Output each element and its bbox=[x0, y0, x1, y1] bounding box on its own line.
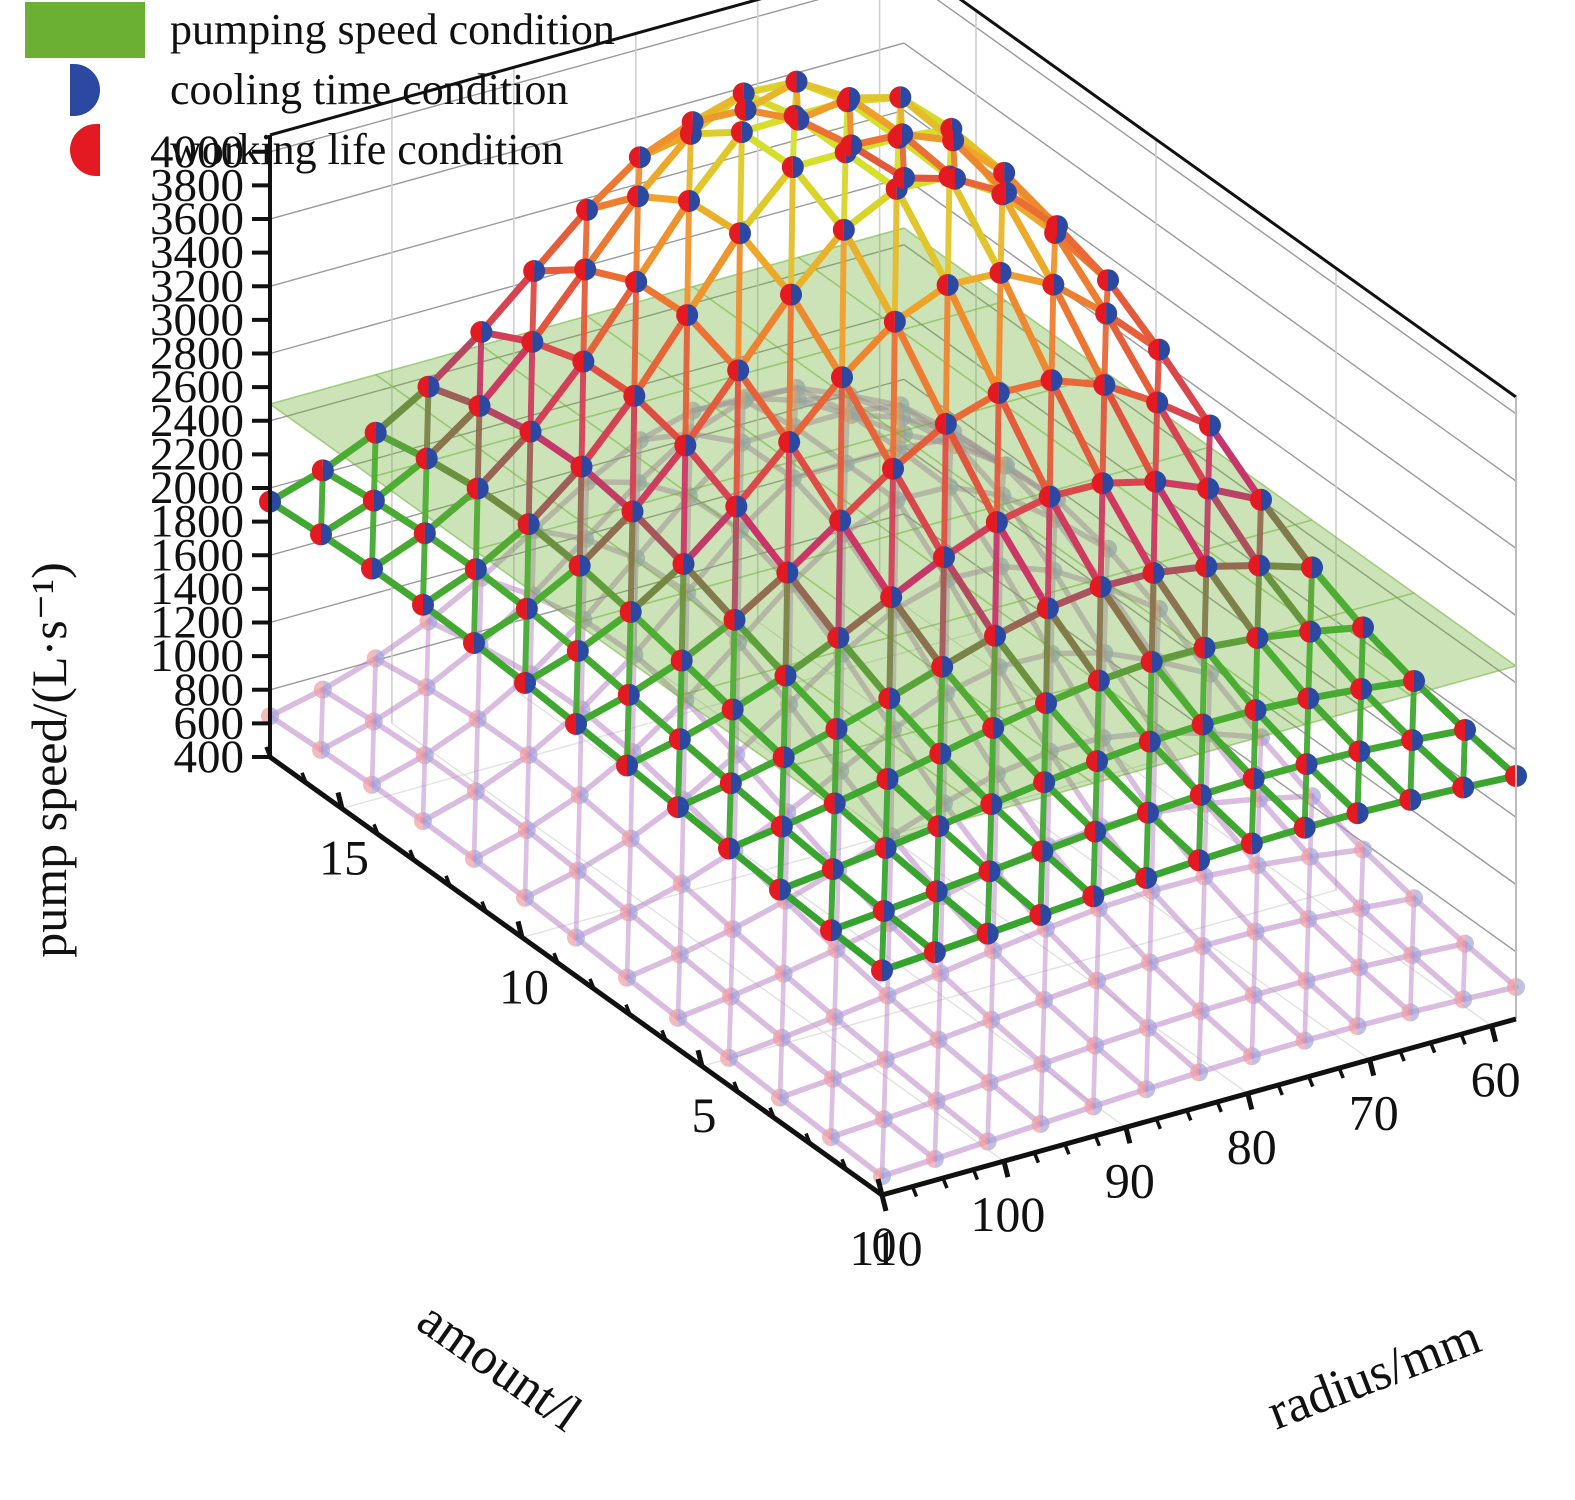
mesh-diagonal bbox=[731, 929, 733, 996]
surface-vertex-marker bbox=[787, 109, 809, 131]
surface-vertex-marker bbox=[873, 1167, 891, 1185]
surface-vertex-marker bbox=[824, 1070, 842, 1088]
surface-vertex-marker bbox=[720, 772, 742, 794]
mesh-diagonal bbox=[844, 152, 846, 229]
mesh-diagonal bbox=[1046, 608, 1048, 703]
marker-right-half bbox=[935, 941, 946, 963]
mesh-edge bbox=[937, 1101, 988, 1142]
mesh-edge bbox=[478, 719, 529, 755]
mesh-diagonal bbox=[476, 719, 478, 791]
surface-vertex-marker bbox=[1039, 486, 1061, 508]
mesh-edge bbox=[731, 997, 782, 1038]
surface-vertex-marker bbox=[673, 875, 691, 893]
marker-right-half bbox=[1001, 262, 1012, 284]
legend: pumping speed condition cooling time con… bbox=[0, 0, 780, 180]
surface-vertex-marker bbox=[1090, 576, 1112, 598]
mesh-edge bbox=[636, 201, 689, 282]
legend-label-working-life: working life condition bbox=[170, 128, 564, 172]
surface-vertex-marker bbox=[465, 850, 483, 868]
y-tick-label: 80 bbox=[1227, 1118, 1277, 1174]
mesh-diagonal bbox=[891, 469, 893, 597]
mesh-diagonal bbox=[636, 196, 638, 281]
mesh-diagonal bbox=[682, 564, 684, 661]
mesh-diagonal bbox=[995, 522, 997, 636]
surface-vertex-marker bbox=[926, 1150, 944, 1168]
mesh-diagonal bbox=[888, 923, 890, 995]
mesh-diagonal bbox=[1152, 573, 1154, 662]
mesh-diagonal bbox=[321, 690, 323, 750]
surface-vertex-marker bbox=[981, 1073, 999, 1091]
surface-vertex-marker bbox=[1297, 687, 1319, 709]
mesh-edge bbox=[576, 938, 627, 978]
mesh-diagonal bbox=[374, 658, 376, 721]
mesh-edge bbox=[1095, 1046, 1146, 1090]
surface-vertex-marker bbox=[884, 311, 906, 333]
surface-vertex-marker bbox=[363, 776, 381, 794]
mesh-edge bbox=[529, 755, 580, 795]
mesh-diagonal bbox=[1042, 1000, 1044, 1064]
mesh-edge bbox=[427, 687, 478, 719]
surface-vertex-marker bbox=[924, 941, 946, 963]
mesh-diagonal bbox=[1093, 1046, 1095, 1107]
surface-vertex-marker bbox=[1092, 472, 1114, 494]
mesh-diagonal bbox=[525, 830, 527, 898]
mesh-edge bbox=[682, 884, 733, 929]
mesh-diagonal bbox=[1050, 380, 1052, 496]
mesh-edge bbox=[578, 871, 629, 913]
x-axis-title: amount/l bbox=[407, 1290, 591, 1443]
surface-vertex-marker bbox=[1294, 817, 1316, 839]
mesh-edge bbox=[1414, 898, 1465, 943]
mesh-edge bbox=[993, 951, 1044, 1000]
surface-vertex-marker bbox=[669, 1009, 687, 1027]
marker-right-half bbox=[1358, 802, 1369, 824]
y-tick bbox=[1248, 1093, 1252, 1109]
mesh-diagonal bbox=[838, 521, 840, 638]
mesh-diagonal bbox=[634, 282, 636, 396]
surface-vertex-marker bbox=[718, 838, 740, 860]
surface-vertex-marker bbox=[826, 718, 848, 740]
surface-vertex-marker bbox=[418, 678, 436, 696]
mesh-edge bbox=[1254, 995, 1305, 1041]
marker-right-half bbox=[955, 168, 966, 190]
mesh-diagonal bbox=[423, 755, 425, 821]
surface-vertex-marker bbox=[771, 816, 793, 838]
mesh-diagonal bbox=[1308, 857, 1310, 919]
surface-vertex-marker bbox=[521, 331, 543, 353]
surface-vertex-marker bbox=[1349, 1017, 1367, 1035]
surface-vertex-marker bbox=[944, 168, 966, 190]
mesh-edge bbox=[474, 859, 525, 898]
z-tick-label: 400 bbox=[174, 731, 245, 783]
surface-vertex-marker bbox=[1301, 848, 1319, 866]
surface-vertex-marker bbox=[1033, 771, 1055, 793]
marker-left-half bbox=[889, 86, 900, 108]
surface-vertex-marker bbox=[569, 555, 591, 577]
surface-vertex-marker bbox=[467, 782, 485, 800]
mesh-edge bbox=[474, 830, 527, 859]
surface-vertex-marker bbox=[1146, 391, 1168, 413]
surface-vertex-marker bbox=[1188, 849, 1210, 871]
surface-vertex-marker bbox=[620, 903, 638, 921]
mesh-diagonal bbox=[944, 424, 946, 557]
mesh-edge bbox=[884, 1119, 935, 1159]
surface-vertex-marker bbox=[569, 862, 587, 880]
mesh-edge bbox=[793, 167, 844, 230]
marker-right-half bbox=[1358, 1017, 1367, 1035]
surface-vertex-marker bbox=[622, 830, 640, 848]
mesh-diagonal bbox=[937, 1040, 939, 1101]
surface-vertex-marker bbox=[1248, 555, 1270, 577]
surface-vertex-marker bbox=[669, 728, 691, 750]
surface-vertex-marker bbox=[928, 815, 950, 837]
mesh-edge bbox=[374, 687, 427, 721]
mesh-diagonal bbox=[1305, 981, 1307, 1041]
surface-vertex-marker bbox=[984, 625, 1006, 647]
surface-vertex-marker bbox=[1199, 415, 1221, 437]
mesh-diagonal bbox=[1041, 1064, 1043, 1124]
mesh-diagonal bbox=[1044, 929, 1046, 1000]
mesh-diagonal bbox=[633, 396, 635, 512]
mesh-diagonal bbox=[1206, 489, 1208, 567]
mesh-diagonal bbox=[786, 573, 788, 676]
mesh-diagonal bbox=[733, 620, 735, 710]
surface-vertex-marker bbox=[1137, 802, 1159, 824]
marker-right-half bbox=[1305, 817, 1316, 839]
surface-vertex-marker bbox=[773, 746, 795, 768]
y-tick-label: 90 bbox=[1105, 1152, 1155, 1208]
mesh-diagonal bbox=[733, 850, 735, 929]
surface-vertex-marker bbox=[520, 746, 538, 764]
legend-swatch-wrap bbox=[0, 124, 170, 176]
surface-vertex-marker bbox=[1243, 768, 1265, 790]
mesh-diagonal bbox=[684, 445, 686, 564]
mesh-edge bbox=[782, 1038, 833, 1079]
mesh-edge bbox=[525, 898, 576, 938]
surface-vertex-marker bbox=[414, 812, 432, 830]
mesh-diagonal bbox=[687, 201, 689, 315]
y-tick bbox=[1004, 1161, 1008, 1177]
marker-right-half bbox=[1252, 832, 1263, 854]
surface-vertex-marker bbox=[875, 837, 897, 859]
surface-vertex-marker bbox=[412, 594, 434, 616]
mesh-diagonal bbox=[840, 377, 842, 520]
surface-vertex-marker bbox=[363, 490, 385, 512]
surface-vertex-marker bbox=[618, 969, 636, 987]
marker-right-half bbox=[1516, 978, 1525, 996]
surface-vertex-marker bbox=[1033, 1055, 1051, 1073]
mesh-edge bbox=[423, 791, 476, 821]
y-axis-title: radius/mm bbox=[1260, 1308, 1488, 1441]
mesh-edge bbox=[425, 719, 478, 755]
surface-vertex-marker bbox=[771, 1089, 789, 1107]
surface-vertex-marker bbox=[1401, 729, 1423, 751]
marker-left-half bbox=[625, 271, 636, 293]
marker-right-half bbox=[882, 959, 893, 981]
mesh-diagonal bbox=[835, 949, 837, 1017]
x-tick-label: 15 bbox=[319, 830, 369, 886]
surface-vertex-marker bbox=[993, 162, 1015, 184]
mesh-edge bbox=[990, 1082, 1041, 1124]
mesh-diagonal bbox=[474, 569, 476, 643]
mesh-edge bbox=[831, 1137, 882, 1176]
surface-vertex-marker bbox=[720, 1049, 738, 1067]
surface-vertex-marker bbox=[627, 185, 649, 207]
surface-vertex-marker bbox=[988, 382, 1010, 404]
surface-vertex-marker bbox=[826, 1008, 844, 1026]
mesh-edge bbox=[1150, 962, 1201, 1011]
mesh-diagonal bbox=[1150, 662, 1152, 742]
surface-vertex-marker bbox=[775, 665, 797, 687]
marker-right-half bbox=[1041, 1115, 1050, 1133]
surface-vertex-marker bbox=[1454, 990, 1472, 1008]
surface-vertex-marker bbox=[516, 598, 538, 620]
mesh-edge bbox=[423, 821, 474, 859]
mesh-edge bbox=[527, 795, 580, 830]
mesh-diagonal bbox=[782, 974, 784, 1038]
surface-plot-svg: 4000380036003400320030002800260024002200… bbox=[0, 0, 1575, 1500]
surface-vertex-marker bbox=[1454, 719, 1476, 741]
surface-vertex-marker bbox=[1348, 740, 1370, 762]
mesh-diagonal bbox=[1148, 962, 1150, 1027]
mesh-diagonal bbox=[991, 951, 993, 1020]
mesh-diagonal bbox=[576, 871, 578, 938]
mesh-diagonal bbox=[476, 489, 478, 570]
legend-label-cooling-time: cooling time condition bbox=[170, 68, 568, 112]
mesh-diagonal bbox=[833, 1017, 835, 1079]
mesh-diagonal bbox=[991, 728, 993, 804]
surface-vertex-marker bbox=[567, 929, 585, 947]
mesh-diagonal bbox=[1307, 919, 1309, 981]
surface-vertex-marker bbox=[1192, 1002, 1210, 1020]
mesh-edge bbox=[1148, 1028, 1199, 1072]
surface-vertex-marker bbox=[671, 946, 689, 964]
marker-left-half bbox=[678, 190, 689, 212]
mesh-edge bbox=[323, 690, 374, 722]
marker-right-half bbox=[1305, 1032, 1314, 1050]
surface-vertex-marker bbox=[523, 260, 545, 282]
surface-vertex-marker bbox=[361, 558, 383, 580]
y-tick bbox=[1370, 1060, 1374, 1076]
surface-vertex-marker bbox=[1042, 274, 1064, 296]
legend-swatch-wrap bbox=[0, 2, 170, 58]
mesh-edge bbox=[1257, 865, 1308, 919]
mesh-diagonal bbox=[629, 612, 631, 695]
mesh-edge bbox=[372, 785, 423, 821]
mesh-edge bbox=[784, 974, 835, 1017]
surface-vertex-marker bbox=[1135, 867, 1157, 889]
mesh-diagonal bbox=[842, 230, 844, 377]
mesh-diagonal bbox=[791, 167, 793, 295]
mesh-diagonal bbox=[1048, 497, 1050, 609]
surface-vertex-marker bbox=[1403, 946, 1421, 964]
surface-vertex-marker bbox=[1246, 627, 1268, 649]
mesh-diagonal bbox=[888, 698, 890, 779]
mesh-diagonal bbox=[1097, 908, 1099, 980]
surface-vertex-marker bbox=[1245, 699, 1267, 721]
surface-vertex-marker bbox=[822, 1128, 840, 1146]
surface-vertex-marker bbox=[1241, 832, 1263, 854]
surface-vertex-marker bbox=[824, 792, 846, 814]
mesh-diagonal bbox=[835, 729, 837, 803]
mesh-edge bbox=[321, 750, 372, 785]
mesh-diagonal bbox=[580, 467, 582, 566]
surface-vertex-marker bbox=[871, 959, 893, 981]
surface-vertex-marker bbox=[1148, 339, 1170, 361]
surface-vertex-marker bbox=[671, 650, 693, 672]
surface-vertex-marker bbox=[775, 965, 793, 983]
mesh-diagonal bbox=[837, 638, 839, 729]
surface-vertex-marker bbox=[724, 609, 746, 631]
y-tick bbox=[1492, 1026, 1496, 1042]
surface-vertex-marker bbox=[1194, 637, 1216, 659]
surface-vertex-marker bbox=[1137, 1080, 1155, 1098]
mesh-diagonal bbox=[784, 676, 786, 758]
surface-vertex-marker bbox=[565, 713, 587, 735]
surface-vertex-marker bbox=[1030, 904, 1052, 926]
surface-vertex-marker bbox=[1299, 910, 1317, 928]
surface-vertex-marker bbox=[1041, 369, 1063, 391]
mesh-diagonal bbox=[531, 342, 533, 432]
mesh-diagonal bbox=[1205, 566, 1207, 647]
surface-vertex-marker bbox=[469, 395, 491, 417]
mesh-diagonal bbox=[680, 884, 682, 955]
surface-vertex-marker bbox=[463, 632, 485, 654]
surface-vertex-marker bbox=[667, 796, 689, 818]
surface-vertex-marker bbox=[933, 546, 955, 568]
surface-vertex-marker bbox=[893, 167, 915, 189]
mesh-diagonal bbox=[787, 442, 789, 573]
mesh-diagonal bbox=[578, 795, 580, 871]
surface-vertex-marker bbox=[820, 919, 842, 941]
surface-vertex-marker bbox=[1401, 1003, 1419, 1021]
surface-vertex-marker bbox=[782, 156, 804, 178]
surface-vertex-marker bbox=[574, 258, 596, 280]
mesh-diagonal bbox=[1101, 483, 1103, 587]
mesh-diagonal bbox=[784, 901, 786, 974]
z-axis-title: pump speed/(L·s⁻¹) bbox=[21, 562, 77, 957]
surface-vertex-marker bbox=[1299, 621, 1321, 643]
surface-vertex-marker bbox=[312, 741, 330, 759]
surface-vertex-marker bbox=[1035, 991, 1053, 1009]
surface-vertex-marker bbox=[722, 698, 744, 720]
y-tick bbox=[1126, 1127, 1130, 1143]
surface-vertex-marker bbox=[416, 448, 438, 470]
surface-vertex-marker bbox=[1399, 789, 1421, 811]
x-tick-label: 10 bbox=[499, 958, 549, 1014]
mesh-edge bbox=[833, 1079, 884, 1119]
mesh-diagonal bbox=[1203, 876, 1205, 946]
marker-right-half bbox=[1410, 1003, 1419, 1021]
mesh-diagonal bbox=[629, 839, 631, 913]
marker-right-half bbox=[1516, 765, 1527, 787]
surface-vertex-marker bbox=[1456, 935, 1474, 953]
surface-vertex-marker bbox=[1250, 489, 1272, 511]
surface-vertex-marker bbox=[937, 274, 959, 296]
mesh-diagonal bbox=[1257, 799, 1259, 865]
surface-vertex-marker bbox=[1296, 1032, 1314, 1050]
surface-vertex-marker bbox=[1086, 1037, 1104, 1055]
surface-vertex-marker bbox=[1248, 856, 1266, 874]
surface-vertex-marker bbox=[625, 271, 647, 293]
mesh-edge bbox=[476, 755, 529, 791]
mesh-diagonal bbox=[478, 406, 480, 489]
surface-vertex-marker bbox=[1046, 215, 1068, 237]
mesh-diagonal bbox=[427, 621, 429, 687]
mesh-edge bbox=[1097, 981, 1148, 1028]
surface-vertex-marker bbox=[1084, 821, 1106, 843]
mesh-edge bbox=[1361, 908, 1412, 955]
mesh-edge bbox=[991, 1020, 1042, 1064]
surface-vertex-marker bbox=[724, 920, 742, 938]
y-tick-label: 110 bbox=[849, 1220, 922, 1276]
surface-vertex-marker bbox=[831, 366, 853, 388]
surface-vertex-marker bbox=[1301, 556, 1323, 578]
surface-vertex-marker bbox=[778, 431, 800, 453]
marker-right-half bbox=[988, 1133, 997, 1151]
mesh-diagonal bbox=[1099, 587, 1101, 681]
mesh-edge bbox=[780, 1098, 831, 1137]
working-life-halfcircle-icon bbox=[70, 124, 100, 176]
surface-vertex-marker bbox=[1190, 784, 1212, 806]
surface-vertex-marker bbox=[310, 523, 332, 545]
surface-vertex-marker bbox=[780, 284, 802, 306]
mesh-diagonal bbox=[425, 687, 427, 755]
surface-vertex-marker bbox=[1352, 616, 1374, 638]
surface-vertex-marker bbox=[1296, 753, 1318, 775]
surface-vertex-marker bbox=[725, 495, 747, 517]
mesh-edge bbox=[939, 1040, 990, 1083]
surface-vertex-marker bbox=[929, 743, 951, 765]
surface-vertex-marker bbox=[1031, 840, 1053, 862]
surface-vertex-marker bbox=[414, 522, 436, 544]
marker-left-half bbox=[990, 262, 1001, 284]
mesh-diagonal bbox=[1203, 648, 1205, 725]
mesh-edge bbox=[1412, 955, 1463, 999]
mesh-diagonal bbox=[735, 506, 737, 619]
surface-vertex-marker bbox=[367, 649, 385, 667]
surface-vertex-marker bbox=[1032, 1115, 1050, 1133]
surface-vertex-marker bbox=[516, 889, 534, 907]
legend-label-pumping-speed: pumping speed condition bbox=[170, 8, 615, 52]
surface-vertex-marker bbox=[1190, 1063, 1208, 1081]
mesh-edge bbox=[627, 978, 678, 1018]
mesh-diagonal bbox=[1095, 981, 1097, 1046]
surface-vertex-marker bbox=[877, 1050, 895, 1068]
surface-vertex-marker bbox=[889, 86, 911, 108]
mesh-edge bbox=[481, 271, 534, 332]
surface-vertex-marker bbox=[1247, 923, 1265, 941]
mesh-diagonal bbox=[893, 322, 895, 469]
mesh-diagonal bbox=[942, 557, 944, 667]
surface-vertex-marker bbox=[1352, 899, 1370, 917]
surface-vertex-marker bbox=[673, 553, 695, 575]
mesh-diagonal bbox=[685, 315, 687, 445]
marker-right-half bbox=[1410, 789, 1421, 811]
marker-right-half bbox=[1252, 1047, 1261, 1065]
mesh-diagonal bbox=[1201, 946, 1203, 1011]
surface-vertex-marker bbox=[986, 511, 1008, 533]
surface-vertex-marker bbox=[1197, 478, 1219, 500]
surface-vertex-marker bbox=[1354, 840, 1372, 858]
surface-vertex-marker bbox=[571, 786, 589, 804]
mesh-diagonal bbox=[1146, 1028, 1148, 1089]
mesh-diagonal bbox=[1052, 285, 1054, 381]
marker-right-half bbox=[1463, 776, 1474, 798]
surface-vertex-marker bbox=[982, 717, 1004, 739]
surface-vertex-marker bbox=[727, 359, 749, 381]
surface-vertex-marker bbox=[1350, 678, 1372, 700]
